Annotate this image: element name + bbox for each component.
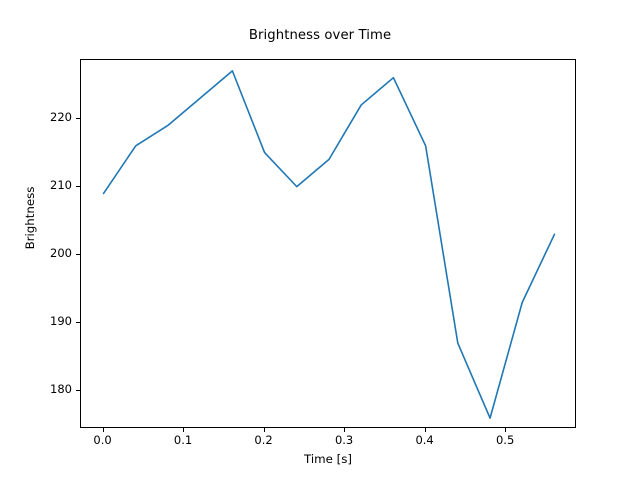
y-tick-mark xyxy=(76,390,80,391)
y-tick-mark xyxy=(76,322,80,323)
x-tick-mark xyxy=(183,428,184,432)
y-tick-label: 220 xyxy=(12,110,72,124)
y-tick-label: 210 xyxy=(12,178,72,192)
chart-title: Brightness over Time xyxy=(0,28,640,43)
y-axis-label: Brightness xyxy=(23,158,37,278)
y-tick-mark xyxy=(76,118,80,119)
x-tick-label: 0.2 xyxy=(234,433,294,447)
x-tick-mark xyxy=(264,428,265,432)
x-tick-label: 0.0 xyxy=(73,433,133,447)
x-tick-mark xyxy=(505,428,506,432)
y-tick-mark xyxy=(76,186,80,187)
brightness-line-series xyxy=(104,71,555,418)
y-tick-label: 180 xyxy=(12,382,72,396)
x-tick-label: 0.5 xyxy=(475,433,535,447)
x-tick-label: 0.3 xyxy=(314,433,374,447)
x-tick-mark xyxy=(103,428,104,432)
matplotlib-figure: Brightness over Time 0.00.10.20.30.40.5 … xyxy=(0,0,640,480)
x-axis-label: Time [s] xyxy=(80,452,576,466)
plot-area xyxy=(81,60,577,429)
x-tick-label: 0.4 xyxy=(395,433,455,447)
y-tick-mark xyxy=(76,254,80,255)
x-tick-label: 0.1 xyxy=(153,433,213,447)
y-tick-label: 200 xyxy=(12,246,72,260)
x-tick-mark xyxy=(344,428,345,432)
plot-axes-frame xyxy=(80,59,576,428)
y-tick-label: 190 xyxy=(12,314,72,328)
x-tick-mark xyxy=(425,428,426,432)
